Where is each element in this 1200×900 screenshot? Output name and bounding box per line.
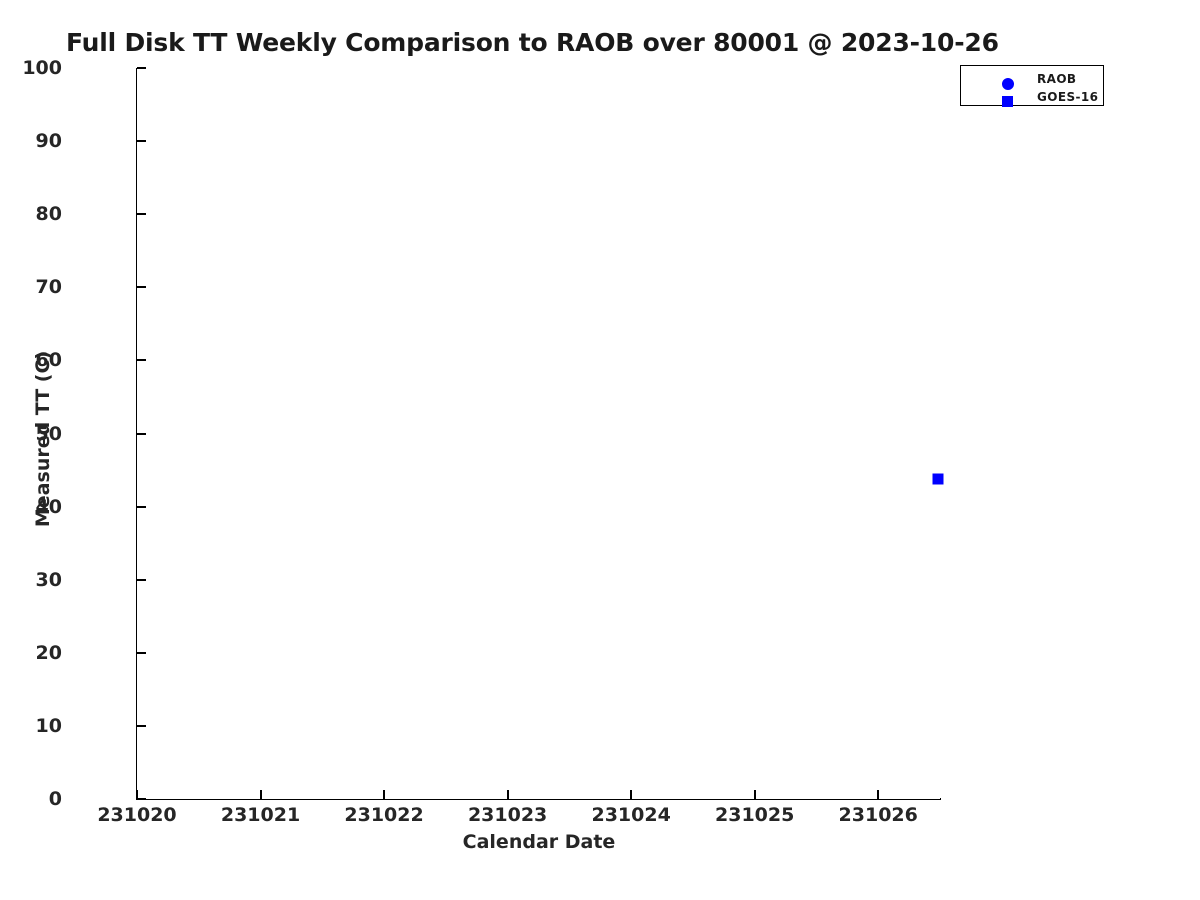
y-tick-mark bbox=[137, 506, 146, 508]
y-tick-mark bbox=[137, 67, 146, 69]
x-tick-mark bbox=[507, 790, 509, 799]
plot-area bbox=[137, 68, 940, 799]
y-axis-label: Measured TT (C) bbox=[32, 189, 54, 689]
legend-label: GOES-16 bbox=[1037, 90, 1098, 104]
y-tick-mark bbox=[137, 725, 146, 727]
x-tick-label: 231023 bbox=[468, 806, 547, 825]
x-tick-mark bbox=[630, 790, 632, 799]
x-tick-mark bbox=[754, 790, 756, 799]
y-tick-label: 100 bbox=[22, 59, 62, 78]
chart-legend: RAOBGOES-16 bbox=[960, 65, 1104, 106]
x-tick-label: 231022 bbox=[344, 806, 423, 825]
legend-item-goes-16[interactable]: GOES-16 bbox=[961, 87, 1103, 105]
legend-square-icon bbox=[1002, 96, 1013, 107]
y-tick-mark bbox=[137, 140, 146, 142]
y-tick-mark bbox=[137, 359, 146, 361]
x-axis-label: Calendar Date bbox=[0, 831, 1078, 853]
x-tick-mark bbox=[136, 790, 138, 799]
x-tick-label: 231026 bbox=[839, 806, 918, 825]
x-tick-label: 231025 bbox=[715, 806, 794, 825]
legend-label: RAOB bbox=[1037, 72, 1076, 86]
y-tick-mark bbox=[137, 213, 146, 215]
x-tick-mark bbox=[877, 790, 879, 799]
x-tick-label: 231020 bbox=[97, 806, 176, 825]
data-point-goes-16 bbox=[932, 473, 943, 484]
chart-figure: Full Disk TT Weekly Comparison to RAOB o… bbox=[0, 0, 1200, 900]
y-tick-mark bbox=[137, 433, 146, 435]
chart-title: Full Disk TT Weekly Comparison to RAOB o… bbox=[66, 28, 999, 57]
y-tick-mark bbox=[137, 798, 146, 800]
x-tick-label: 231024 bbox=[591, 806, 670, 825]
legend-item-raob[interactable]: RAOB bbox=[961, 69, 1103, 87]
y-tick-label: 10 bbox=[36, 717, 62, 736]
y-tick-mark bbox=[137, 652, 146, 654]
y-tick-label: 90 bbox=[36, 132, 62, 151]
x-tick-mark bbox=[260, 790, 262, 799]
x-tick-label: 231021 bbox=[221, 806, 300, 825]
y-tick-mark bbox=[137, 579, 146, 581]
y-tick-mark bbox=[137, 286, 146, 288]
x-tick-mark bbox=[383, 790, 385, 799]
y-tick-label: 0 bbox=[49, 790, 62, 809]
